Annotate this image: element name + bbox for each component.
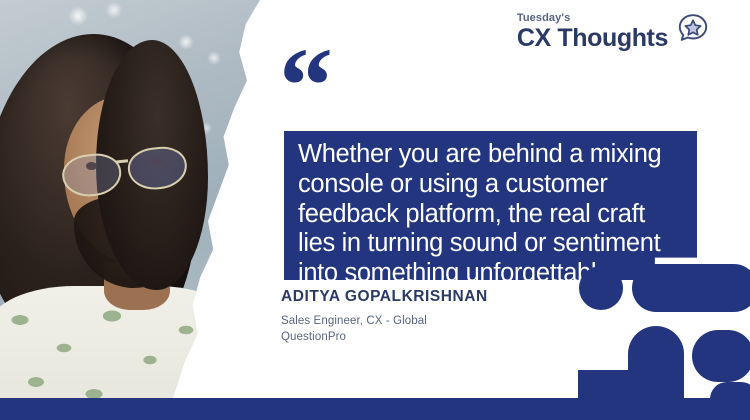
logo-title: CX Thoughts [517, 26, 668, 51]
quotation-mark-icon: “ [279, 48, 331, 126]
quote-box: Whether you are behind a mixing console … [284, 131, 697, 280]
bottom-accent-bar [0, 398, 750, 420]
attribution-role: Sales Engineer, CX - Global [281, 313, 488, 330]
cx-thoughts-logo: Tuesday's CX Thoughts [517, 12, 710, 51]
attribution-company: QuestionPro [281, 329, 488, 346]
glasses-lens-left [60, 151, 123, 199]
glasses-bridge [116, 159, 128, 163]
logo-eyebrow: Tuesday's [517, 13, 668, 24]
quote-card: Tuesday's CX Thoughts “ Whether you are … [0, 0, 750, 420]
speech-bubble-star-icon [676, 12, 710, 51]
attribution-block: ADITYA GOPALKRISHNAN Sales Engineer, CX … [281, 288, 488, 346]
attribution-name: ADITYA GOPALKRISHNAN [281, 288, 488, 307]
quote-text: Whether you are behind a mixing console … [298, 140, 683, 289]
glasses-lens-right [126, 144, 189, 192]
speaker-portrait-photo [0, 0, 260, 402]
logo-text-block: Tuesday's CX Thoughts [517, 13, 668, 51]
